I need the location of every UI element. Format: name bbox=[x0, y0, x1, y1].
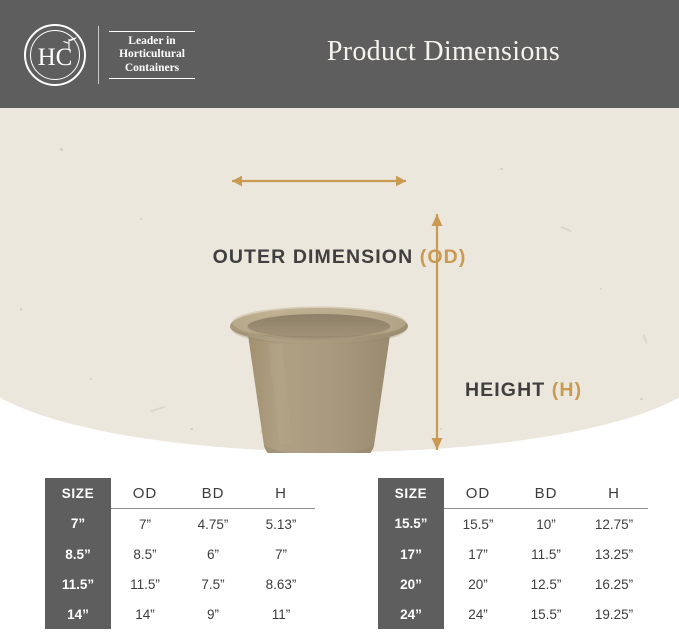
column-header-bd: BD bbox=[179, 478, 247, 509]
cell-h: 7” bbox=[247, 539, 315, 569]
cell-od: 20” bbox=[444, 569, 512, 599]
outer-dimension-text: OUTER DIMENSION bbox=[213, 246, 420, 268]
table-header-row: SIZE OD BD H bbox=[45, 478, 315, 509]
diagram-panel: OUTER DIMENSION (OD) bbox=[0, 108, 679, 453]
table-row: 8.5” 8.5” 6” 7” bbox=[45, 539, 315, 569]
cell-od: 14” bbox=[111, 599, 179, 629]
texture-speck bbox=[600, 288, 602, 290]
cell-bd: 12.5” bbox=[512, 569, 580, 599]
cell-bd: 10” bbox=[512, 509, 580, 540]
table-row: 7” 7” 4.75” 5.13” bbox=[45, 509, 315, 540]
texture-speck bbox=[140, 218, 142, 220]
table-row: 14” 14” 9” 11” bbox=[45, 599, 315, 629]
cell-bd: 11.5” bbox=[512, 539, 580, 569]
cell-od: 11.5” bbox=[111, 569, 179, 599]
table-row: 17” 17” 11.5” 13.25” bbox=[378, 539, 648, 569]
flower-pot-illustration bbox=[228, 306, 410, 453]
tagline-rule-bottom bbox=[109, 78, 195, 79]
cell-h: 16.25” bbox=[580, 569, 648, 599]
cell-size: 14” bbox=[45, 599, 111, 629]
cell-od: 15.5” bbox=[444, 509, 512, 540]
column-header-od: OD bbox=[111, 478, 179, 509]
page-title: Product Dimensions bbox=[0, 36, 679, 68]
cell-h: 11” bbox=[247, 599, 315, 629]
column-header-h: H bbox=[247, 478, 315, 509]
cell-size: 8.5” bbox=[45, 539, 111, 569]
size-chart-table-left: SIZE OD BD H 7” 7” 4.75” 5.13” 8.5” 8.5”… bbox=[45, 478, 315, 629]
column-header-bd: BD bbox=[512, 478, 580, 509]
cell-h: 5.13” bbox=[247, 509, 315, 540]
texture-speck bbox=[190, 428, 193, 430]
cell-od: 7” bbox=[111, 509, 179, 540]
cell-h: 8.63” bbox=[247, 569, 315, 599]
cell-size: 24” bbox=[378, 599, 444, 629]
cell-h: 19.25” bbox=[580, 599, 648, 629]
column-header-h: H bbox=[580, 478, 648, 509]
cell-size: 15.5” bbox=[378, 509, 444, 540]
table-row: 11.5” 11.5” 7.5” 8.63” bbox=[45, 569, 315, 599]
table-row: 24” 24” 15.5” 19.25” bbox=[378, 599, 648, 629]
cell-bd: 4.75” bbox=[179, 509, 247, 540]
texture-speck bbox=[20, 308, 22, 311]
height-text: HEIGHT bbox=[465, 379, 552, 401]
texture-speck bbox=[640, 398, 643, 400]
product-dimensions-infographic: HC Leader in Horticultural Containers Pr… bbox=[0, 0, 679, 636]
cell-bd: 6” bbox=[179, 539, 247, 569]
column-header-size: SIZE bbox=[45, 478, 111, 509]
cell-h: 13.25” bbox=[580, 539, 648, 569]
cell-bd: 7.5” bbox=[179, 569, 247, 599]
header-bar: HC Leader in Horticultural Containers Pr… bbox=[0, 0, 679, 108]
cell-size: 7” bbox=[45, 509, 111, 540]
cell-od: 8.5” bbox=[111, 539, 179, 569]
column-header-od: OD bbox=[444, 478, 512, 509]
texture-speck bbox=[500, 168, 503, 170]
size-chart-table-right: SIZE OD BD H 15.5” 15.5” 10” 12.75” 17” … bbox=[378, 478, 648, 629]
height-label: HEIGHT (H) bbox=[465, 379, 582, 402]
cell-od: 24” bbox=[444, 599, 512, 629]
outer-dimension-label: OUTER DIMENSION (OD) bbox=[0, 246, 679, 269]
cell-size: 11.5” bbox=[45, 569, 111, 599]
cell-od: 17” bbox=[444, 539, 512, 569]
column-header-size: SIZE bbox=[378, 478, 444, 509]
table-header-row: SIZE OD BD H bbox=[378, 478, 648, 509]
table-row: 20” 20” 12.5” 16.25” bbox=[378, 569, 648, 599]
cell-bd: 15.5” bbox=[512, 599, 580, 629]
texture-speck bbox=[60, 148, 63, 151]
cell-size: 17” bbox=[378, 539, 444, 569]
height-arrow-icon bbox=[430, 204, 444, 453]
table-row: 15.5” 15.5” 10” 12.75” bbox=[378, 509, 648, 540]
outer-dimension-arrow-icon bbox=[222, 174, 416, 188]
cell-size: 20” bbox=[378, 569, 444, 599]
texture-speck bbox=[90, 378, 92, 380]
cell-bd: 9” bbox=[179, 599, 247, 629]
height-code: (H) bbox=[552, 379, 582, 401]
cell-h: 12.75” bbox=[580, 509, 648, 540]
